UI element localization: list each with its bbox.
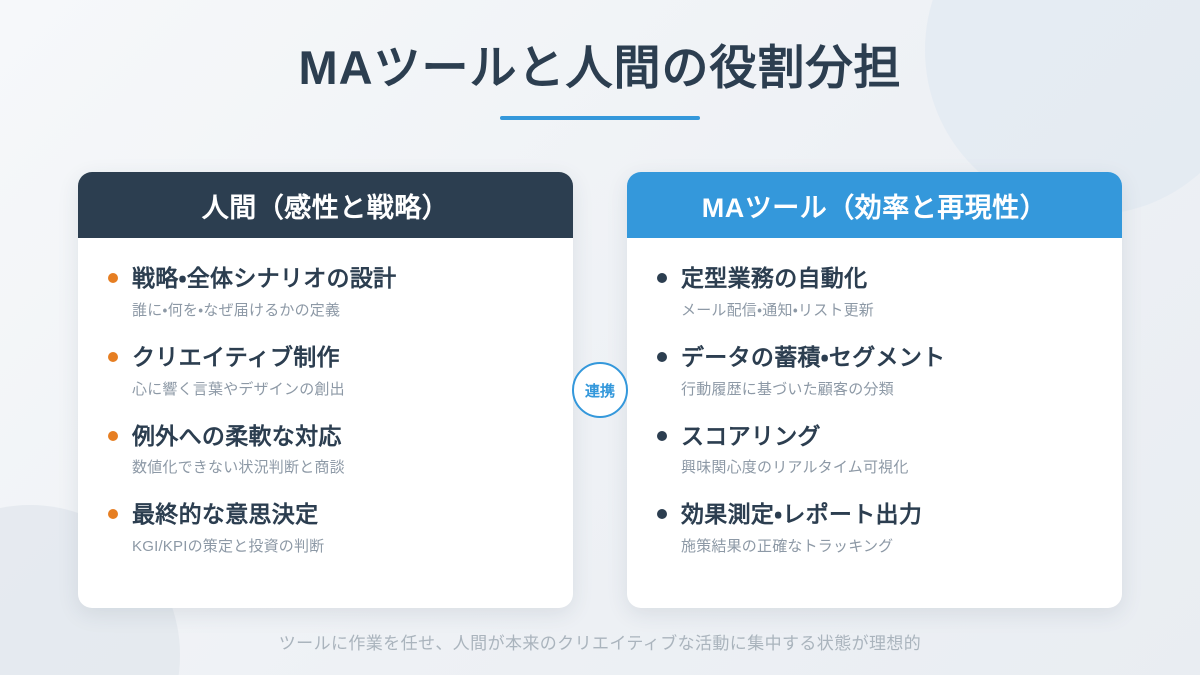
list-item-title: クリエイティブ制作: [132, 343, 340, 372]
list-item-title: 例外への柔軟な対応: [132, 422, 342, 451]
bullet-dot-icon: [657, 431, 667, 441]
bullet-dot-icon: [657, 352, 667, 362]
list-item-description: 数値化できない状況判断と商談: [132, 457, 543, 478]
card-header-human: 人間（感性と戦略）: [78, 172, 573, 238]
list-item-description: メール配信・通知・リスト更新: [681, 300, 1092, 321]
list-item-description: KGI/KPIの策定と投資の判断: [132, 536, 543, 557]
list-item-title: 戦略・全体シナリオの設計: [132, 264, 396, 293]
card-header-human-label: 人間（感性と戦略）: [202, 186, 450, 225]
list-item[interactable]: クリエイティブ制作 心に響く言葉やデザインの創出: [108, 343, 543, 400]
connector-badge: 連携: [572, 362, 628, 418]
list-item-title: 効果測定・レポート出力: [681, 500, 922, 529]
list-item[interactable]: 最終的な意思決定 KGI/KPIの策定と投資の判断: [108, 500, 543, 557]
bullet-dot-icon: [657, 509, 667, 519]
card-human: 人間（感性と戦略） 戦略・全体シナリオの設計 誰に・何を・なぜ届けるかの定義 ク…: [78, 172, 573, 608]
card-header-ma-tool-label: MAツール（効率と再現性）: [702, 186, 1048, 225]
list-item[interactable]: データの蓄積・セグメント 行動履歴に基づいた顧客の分類: [657, 343, 1092, 400]
bullet-dot-icon: [108, 273, 118, 283]
card-body-ma-tool: 定型業務の自動化 メール配信・通知・リスト更新 データの蓄積・セグメント 行動履…: [627, 238, 1122, 557]
list-item[interactable]: 戦略・全体シナリオの設計 誰に・何を・なぜ届けるかの定義: [108, 264, 543, 321]
list-item-title: 最終的な意思決定: [132, 500, 318, 529]
list-item-description: 心に響く言葉やデザインの創出: [132, 379, 543, 400]
list-item[interactable]: スコアリング 興味関心度のリアルタイム可視化: [657, 422, 1092, 479]
list-item-title: データの蓄積・セグメント: [681, 343, 945, 372]
list-item-description: 行動履歴に基づいた顧客の分類: [681, 379, 1092, 400]
list-item-description: 興味関心度のリアルタイム可視化: [681, 457, 1092, 478]
connector-badge-label: 連携: [585, 380, 615, 401]
list-item-description: 誰に・何を・なぜ届けるかの定義: [132, 300, 543, 321]
card-header-ma-tool: MAツール（効率と再現性）: [627, 172, 1122, 238]
list-item-description: 施策結果の正確なトラッキング: [681, 536, 1092, 557]
bullet-dot-icon: [108, 509, 118, 519]
footer-note: ツールに作業を任せ、人間が本来のクリエイティブな活動に集中する状態が理想的: [0, 629, 1200, 654]
list-item[interactable]: 効果測定・レポート出力 施策結果の正確なトラッキング: [657, 500, 1092, 557]
card-body-human: 戦略・全体シナリオの設計 誰に・何を・なぜ届けるかの定義 クリエイティブ制作 心…: [78, 238, 573, 557]
card-ma-tool: MAツール（効率と再現性） 定型業務の自動化 メール配信・通知・リスト更新 デー…: [627, 172, 1122, 608]
title-block: MAツールと人間の役割分担: [0, 40, 1200, 120]
bullet-dot-icon: [108, 352, 118, 362]
title-underline-accent: [500, 116, 700, 120]
bullet-dot-icon: [657, 273, 667, 283]
page-title: MAツールと人間の役割分担: [0, 40, 1200, 96]
list-item[interactable]: 定型業務の自動化 メール配信・通知・リスト更新: [657, 264, 1092, 321]
list-item[interactable]: 例外への柔軟な対応 数値化できない状況判断と商談: [108, 422, 543, 479]
list-item-title: 定型業務の自動化: [681, 264, 867, 293]
bullet-dot-icon: [108, 431, 118, 441]
slide-canvas: MAツールと人間の役割分担 人間（感性と戦略） 戦略・全体シナリオの設計 誰に・…: [0, 0, 1200, 675]
list-item-title: スコアリング: [681, 422, 821, 451]
